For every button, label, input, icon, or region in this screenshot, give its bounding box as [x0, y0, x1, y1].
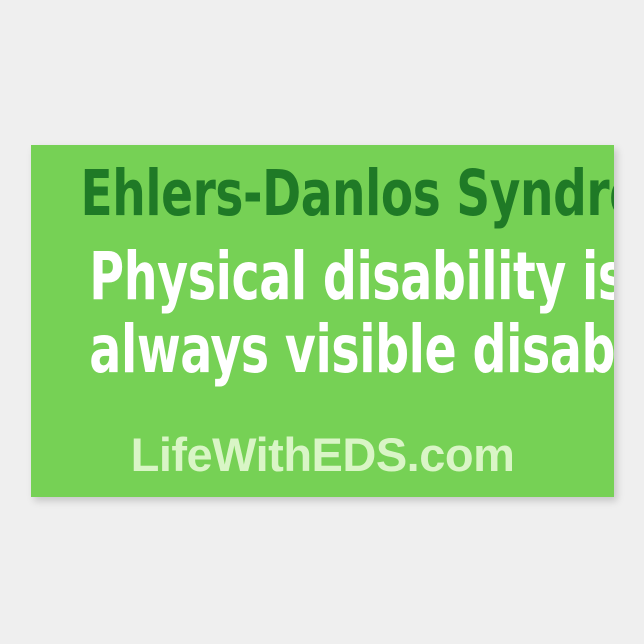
- rectangular-sticker[interactable]: Ehlers-Danlos Syndrome: Physical disabil…: [31, 145, 614, 497]
- sticker-footer-url[interactable]: LifeWithEDS.com: [31, 430, 614, 480]
- sticker-message: Physical disability isn't always visible…: [31, 240, 614, 386]
- sticker-message-line-2: always visible disability.: [89, 313, 555, 386]
- sticker-heading: Ehlers-Danlos Syndrome:: [81, 163, 565, 225]
- sticker-message-line-1: Physical disability isn't: [89, 240, 555, 313]
- sticker-canvas: Ehlers-Danlos Syndrome: Physical disabil…: [0, 0, 644, 644]
